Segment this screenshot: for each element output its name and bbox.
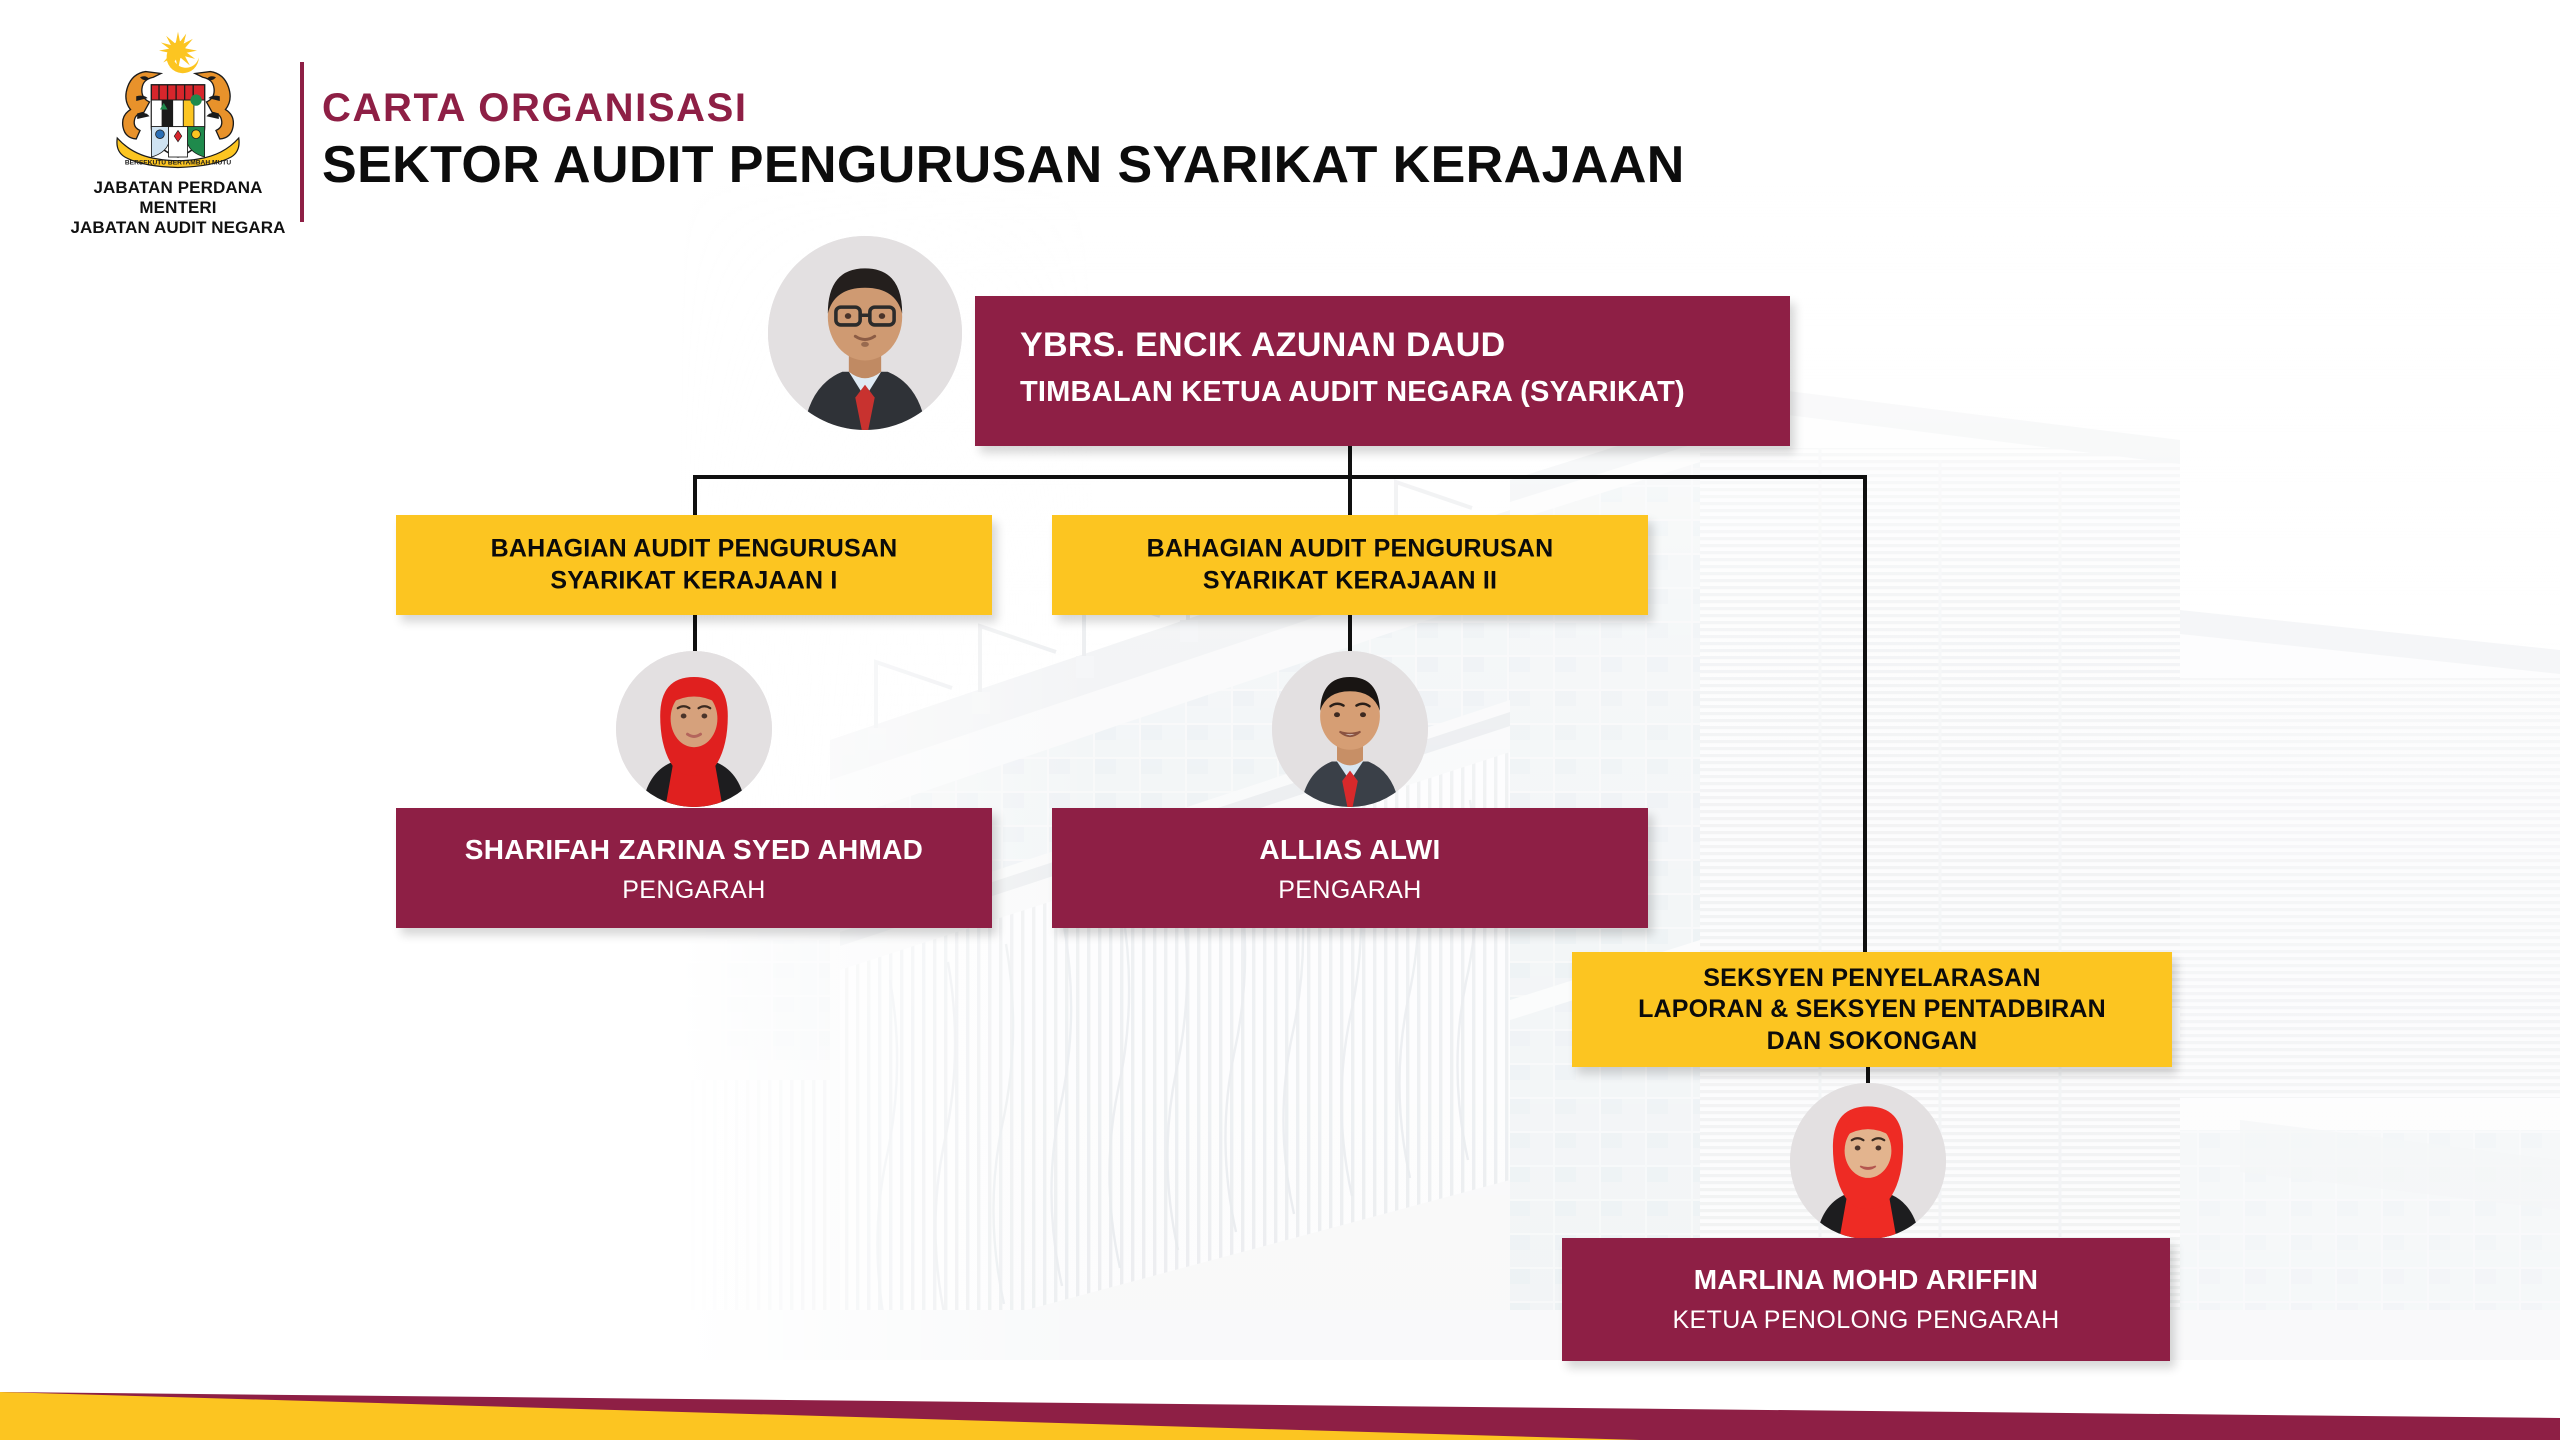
person-1-role: PENGARAH bbox=[396, 876, 992, 905]
node-division-2[interactable]: BAHAGIAN AUDIT PENGURUSAN SYARIKAT KERAJ… bbox=[1052, 515, 1648, 615]
portrait-sharifah-zarina-syed-ahmad-icon bbox=[616, 651, 772, 807]
avatar-person-3 bbox=[1790, 1083, 1946, 1239]
node-section[interactable]: SEKSYEN PENYELARASAN LAPORAN & SEKSYEN P… bbox=[1572, 952, 2172, 1067]
connector-division-2-stem bbox=[1348, 475, 1352, 517]
division-1-label: BAHAGIAN AUDIT PENGURUSAN SYARIKAT KERAJ… bbox=[396, 534, 992, 597]
node-division-1[interactable]: BAHAGIAN AUDIT PENGURUSAN SYARIKAT KERAJ… bbox=[396, 515, 992, 615]
page-kicker: CARTA ORGANISASI bbox=[322, 88, 1685, 128]
avatar-person-2 bbox=[1272, 651, 1428, 807]
division-2-label: BAHAGIAN AUDIT PENGURUSAN SYARIKAT KERAJ… bbox=[1052, 534, 1648, 597]
avatar-leader bbox=[768, 236, 962, 430]
node-leader[interactable]: YBRS. ENCIK AZUNAN DAUD TIMBALAN KETUA A… bbox=[975, 296, 1790, 446]
agency-name-label: JABATAN PERDANA MENTERI JABATAN AUDIT NE… bbox=[62, 178, 294, 238]
connector-section-stem bbox=[1863, 475, 1867, 954]
poster-header: BERSEKUTU BERTAMBAH MUTU JABATAN PERDANA… bbox=[0, 0, 2560, 220]
node-person-3[interactable]: MARLINA MOHD ARIFFIN KETUA PENOLONG PENG… bbox=[1562, 1238, 2170, 1361]
connector-division-1-stem bbox=[693, 475, 697, 517]
person-2-name: ALLIAS ALWI bbox=[1052, 834, 1648, 866]
header-title-group: CARTA ORGANISASI SEKTOR AUDIT PENGURUSAN… bbox=[322, 88, 1685, 193]
organization-chart-poster: BERSEKUTU BERTAMBAH MUTU JABATAN PERDANA… bbox=[0, 0, 2560, 1440]
portrait-allias-alwi-icon bbox=[1272, 651, 1428, 807]
portrait-azunan-daud-icon bbox=[768, 236, 962, 430]
person-1-name: SHARIFAH ZARINA SYED AHMAD bbox=[396, 834, 992, 866]
svg-text:BERSEKUTU BERTAMBAH MUTU: BERSEKUTU BERTAMBAH MUTU bbox=[125, 160, 231, 167]
portrait-marlina-mohd-ariffin-icon bbox=[1790, 1083, 1946, 1239]
footer-stripe bbox=[0, 1378, 2560, 1440]
page-title: SEKTOR AUDIT PENGURUSAN SYARIKAT KERAJAA… bbox=[322, 137, 1685, 193]
avatar-person-1 bbox=[616, 651, 772, 807]
leader-name: YBRS. ENCIK AZUNAN DAUD bbox=[1020, 326, 1505, 365]
header-divider-rule bbox=[300, 62, 304, 222]
node-person-2[interactable]: ALLIAS ALWI PENGARAH bbox=[1052, 808, 1648, 928]
person-2-role: PENGARAH bbox=[1052, 876, 1648, 905]
person-3-role: KETUA PENOLONG PENGARAH bbox=[1562, 1306, 2170, 1335]
malaysia-coat-of-arms-icon: BERSEKUTU BERTAMBAH MUTU bbox=[83, 26, 273, 176]
connector-horizontal-bar bbox=[693, 475, 1867, 479]
person-3-name: MARLINA MOHD ARIFFIN bbox=[1562, 1264, 2170, 1296]
agency-identity: BERSEKUTU BERTAMBAH MUTU JABATAN PERDANA… bbox=[62, 26, 294, 238]
leader-role: TIMBALAN KETUA AUDIT NEGARA (SYARIKAT) bbox=[1020, 376, 1685, 409]
section-label: SEKSYEN PENYELARASAN LAPORAN & SEKSYEN P… bbox=[1572, 962, 2172, 1057]
node-person-1[interactable]: SHARIFAH ZARINA SYED AHMAD PENGARAH bbox=[396, 808, 992, 928]
